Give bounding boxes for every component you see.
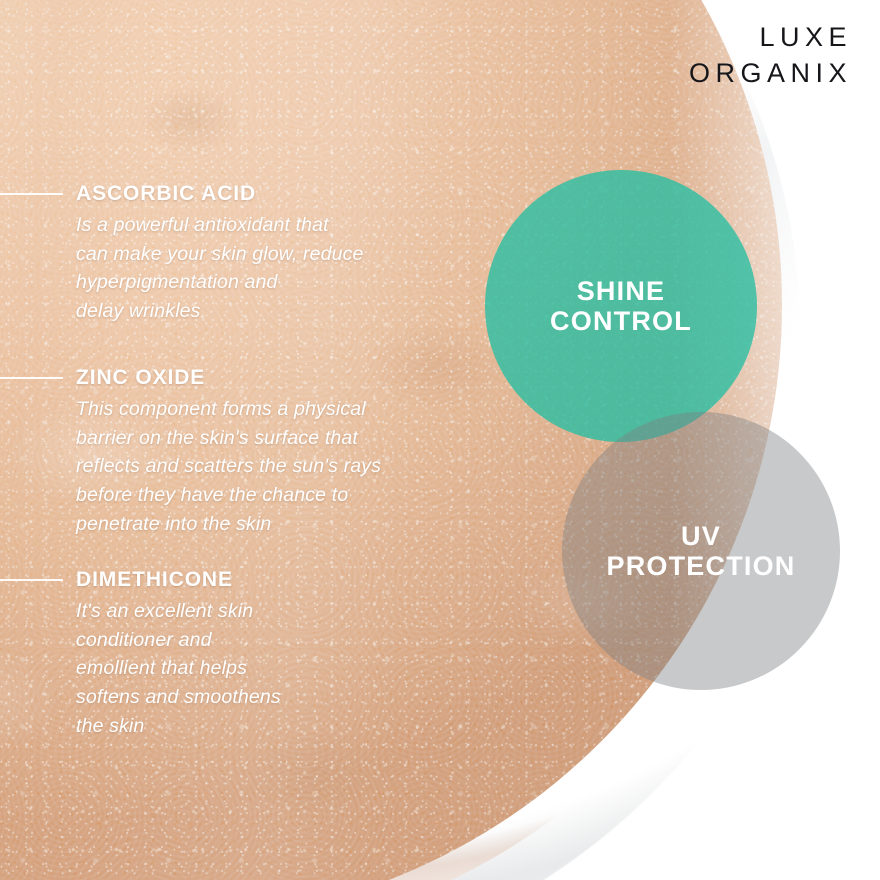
callout-ascorbic-acid: ASCORBIC ACID Is a powerful antioxidant …	[0, 182, 500, 326]
desc-line: reflects and scatters the sun's rays	[76, 452, 500, 481]
callout-leader-line	[0, 579, 63, 581]
callout-leader-line	[0, 193, 63, 195]
ingredient-description-dimethicone: It's an excellent skin conditioner and e…	[76, 597, 500, 740]
ingredient-title-ascorbic-acid: ASCORBIC ACID	[76, 182, 500, 206]
badge-uv-protection: UV PROTECTION	[562, 412, 840, 690]
brand-line-2: ORGANIX	[689, 56, 852, 92]
callout-body: ZINC OXIDE This component forms a physic…	[76, 366, 500, 538]
callout-body: DIMETHICONE It's an excellent skin condi…	[76, 568, 500, 740]
badge-shine-control-line-2: CONTROL	[550, 306, 692, 336]
desc-line: penetrate into the skin	[76, 510, 500, 539]
desc-line: This component forms a physical	[76, 395, 500, 424]
desc-line: conditioner and	[76, 626, 500, 655]
callout-dimethicone: DIMETHICONE It's an excellent skin condi…	[0, 568, 500, 740]
desc-line: before they have the chance to	[76, 481, 500, 510]
badge-uv-protection-label: UV PROTECTION	[592, 521, 809, 581]
ingredient-title-dimethicone: DIMETHICONE	[76, 568, 500, 592]
desc-line: the skin	[76, 712, 500, 741]
desc-line: barrier on the skin's surface that	[76, 424, 500, 453]
brand-wordmark: LUXE ORGANIX	[689, 20, 852, 91]
desc-line: hyperpigmentation and	[76, 268, 500, 297]
ingredient-title-zinc-oxide: ZINC OXIDE	[76, 366, 500, 390]
desc-line: Is a powerful antioxidant that	[76, 211, 500, 240]
callout-leader-line	[0, 377, 63, 379]
badge-shine-control: SHINE CONTROL	[485, 170, 757, 442]
badge-uv-protection-line-1: UV	[606, 521, 795, 551]
badge-uv-protection-line-2: PROTECTION	[606, 551, 795, 581]
infographic-canvas: LUXE ORGANIX SHINE CONTROL UV PROTECTION…	[0, 0, 880, 880]
desc-line: can make your skin glow, reduce	[76, 240, 500, 269]
callout-zinc-oxide: ZINC OXIDE This component forms a physic…	[0, 366, 500, 538]
desc-line: It's an excellent skin	[76, 597, 500, 626]
desc-line: softens and smoothens	[76, 683, 500, 712]
badge-shine-control-label: SHINE CONTROL	[536, 276, 706, 336]
brand-line-1: LUXE	[689, 20, 852, 56]
desc-line: emollient that helps	[76, 654, 500, 683]
desc-line: delay wrinkles	[76, 297, 500, 326]
callout-body: ASCORBIC ACID Is a powerful antioxidant …	[76, 182, 500, 326]
badge-shine-control-line-1: SHINE	[550, 276, 692, 306]
ingredient-description-ascorbic-acid: Is a powerful antioxidant that can make …	[76, 211, 500, 326]
ingredient-description-zinc-oxide: This component forms a physical barrier …	[76, 395, 500, 538]
